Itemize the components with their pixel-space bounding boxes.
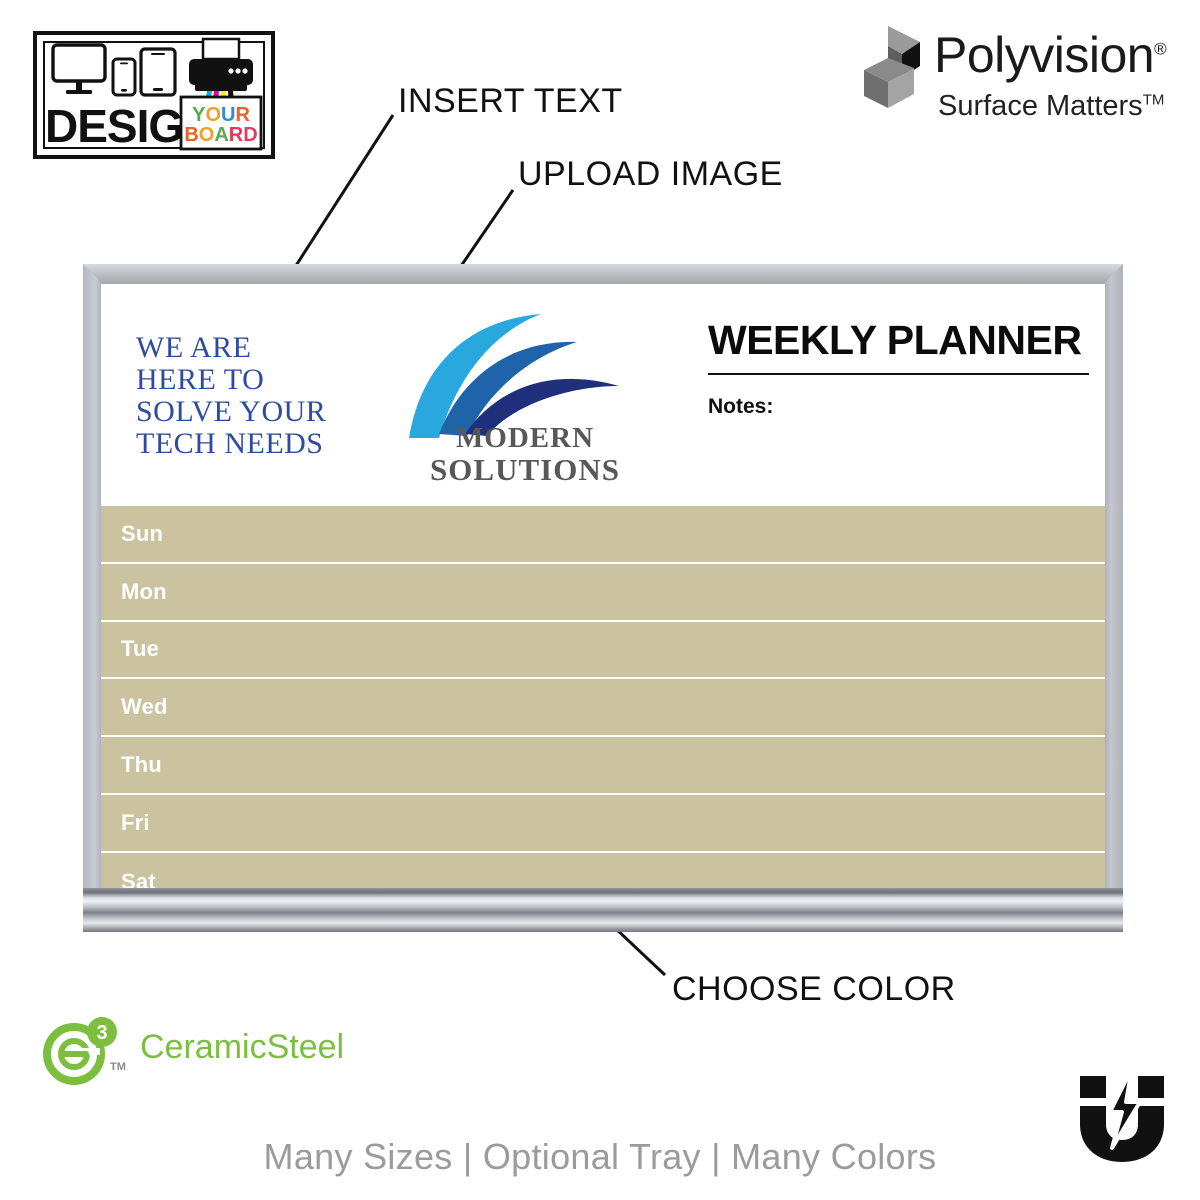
planner-title: WEEKLY PLANNER	[708, 320, 1089, 361]
tablet-icon	[141, 49, 175, 95]
slogan-line-2: HERE TO	[136, 364, 376, 396]
modern-solutions-logo[interactable]: MODERN SOLUTIONS	[391, 312, 633, 492]
day-label-wed: Wed	[121, 694, 168, 720]
planner-divider	[708, 373, 1089, 375]
day-row-thu[interactable]: Thu	[101, 737, 1105, 795]
slogan-line-1: WE ARE	[136, 332, 376, 364]
device-icons-group	[51, 43, 179, 105]
printer-and-board-icon: YOUR BOARD	[175, 37, 267, 155]
slogan-line-4: TECH NEEDS	[136, 428, 376, 460]
day-row-sat[interactable]: Sat	[101, 853, 1105, 890]
board-slogan-text[interactable]: WE ARE HERE TO SOLVE YOUR TECH NEEDS	[136, 332, 376, 460]
trademark-mark: TM	[1143, 91, 1165, 108]
polyvision-wordmark: Polyvision®	[934, 26, 1166, 84]
monitor-icon	[53, 45, 105, 94]
polyvision-logo: Polyvision® Surface MattersTM	[862, 24, 1182, 136]
badge-your-word: YOUR	[192, 104, 250, 126]
e3-superscript: 3	[96, 1022, 107, 1044]
ceramicsteel-label: CeramicSteel	[140, 1028, 344, 1067]
footer-tagline: Many Sizes | Optional Tray | Many Colors	[0, 1136, 1200, 1178]
polyvision-chevron-mark-icon	[862, 24, 922, 116]
registered-mark: ®	[1154, 39, 1166, 58]
day-label-mon: Mon	[121, 579, 167, 605]
day-row-mon[interactable]: Mon	[101, 564, 1105, 622]
callout-label-insert-text: INSERT TEXT	[398, 82, 623, 121]
day-label-fri: Fri	[121, 810, 150, 836]
day-row-fri[interactable]: Fri	[101, 795, 1105, 853]
day-row-sun[interactable]: Sun	[101, 506, 1105, 564]
frame-left-rail	[83, 264, 103, 932]
design-your-board-badge: DESIGN YOUR BOARD	[33, 31, 275, 159]
board-surface: WE ARE HERE TO SOLVE YOUR TECH NEEDS MOD…	[101, 284, 1105, 890]
weekly-day-rows: Sun Mon Tue Wed Thu Fri Sat	[101, 506, 1105, 890]
day-label-sat: Sat	[121, 869, 156, 890]
day-label-thu: Thu	[121, 752, 162, 778]
smartphone-icon	[113, 59, 135, 95]
ms-name-line-1: MODERN	[417, 424, 633, 454]
callout-label-upload-image: UPLOAD IMAGE	[518, 155, 783, 194]
day-label-tue: Tue	[121, 636, 159, 662]
whiteboard-product: WE ARE HERE TO SOLVE YOUR TECH NEEDS MOD…	[83, 264, 1123, 932]
ceramicsteel-logo: 3 TM CeramicSteel	[40, 1014, 360, 1092]
e3-trademark: TM	[110, 1061, 126, 1073]
modern-solutions-swoosh-icon	[391, 312, 633, 440]
slogan-line-3: SOLVE YOUR	[136, 396, 376, 428]
callout-label-choose-color: CHOOSE COLOR	[672, 970, 956, 1009]
poster-canvas: DESIGN YOUR BOARD	[0, 0, 1200, 1200]
planner-notes-label: Notes:	[708, 395, 1089, 419]
pen-tray	[83, 888, 1123, 932]
badge-board-word: BOARD	[184, 124, 257, 146]
day-row-tue[interactable]: Tue	[101, 622, 1105, 680]
day-label-sun: Sun	[121, 521, 163, 547]
board-header-area: WE ARE HERE TO SOLVE YOUR TECH NEEDS MOD…	[101, 284, 1105, 506]
frame-right-rail	[1103, 264, 1123, 932]
polyvision-tagline: Surface MattersTM	[938, 90, 1164, 123]
frame-top-rail	[83, 264, 1123, 286]
weekly-planner-header: WEEKLY PLANNER Notes:	[708, 320, 1089, 419]
e3-mark-icon: 3 TM	[40, 1014, 132, 1086]
modern-solutions-wordmark: MODERN SOLUTIONS	[417, 424, 633, 485]
day-row-wed[interactable]: Wed	[101, 679, 1105, 737]
ms-name-line-2: SOLUTIONS	[417, 454, 633, 486]
